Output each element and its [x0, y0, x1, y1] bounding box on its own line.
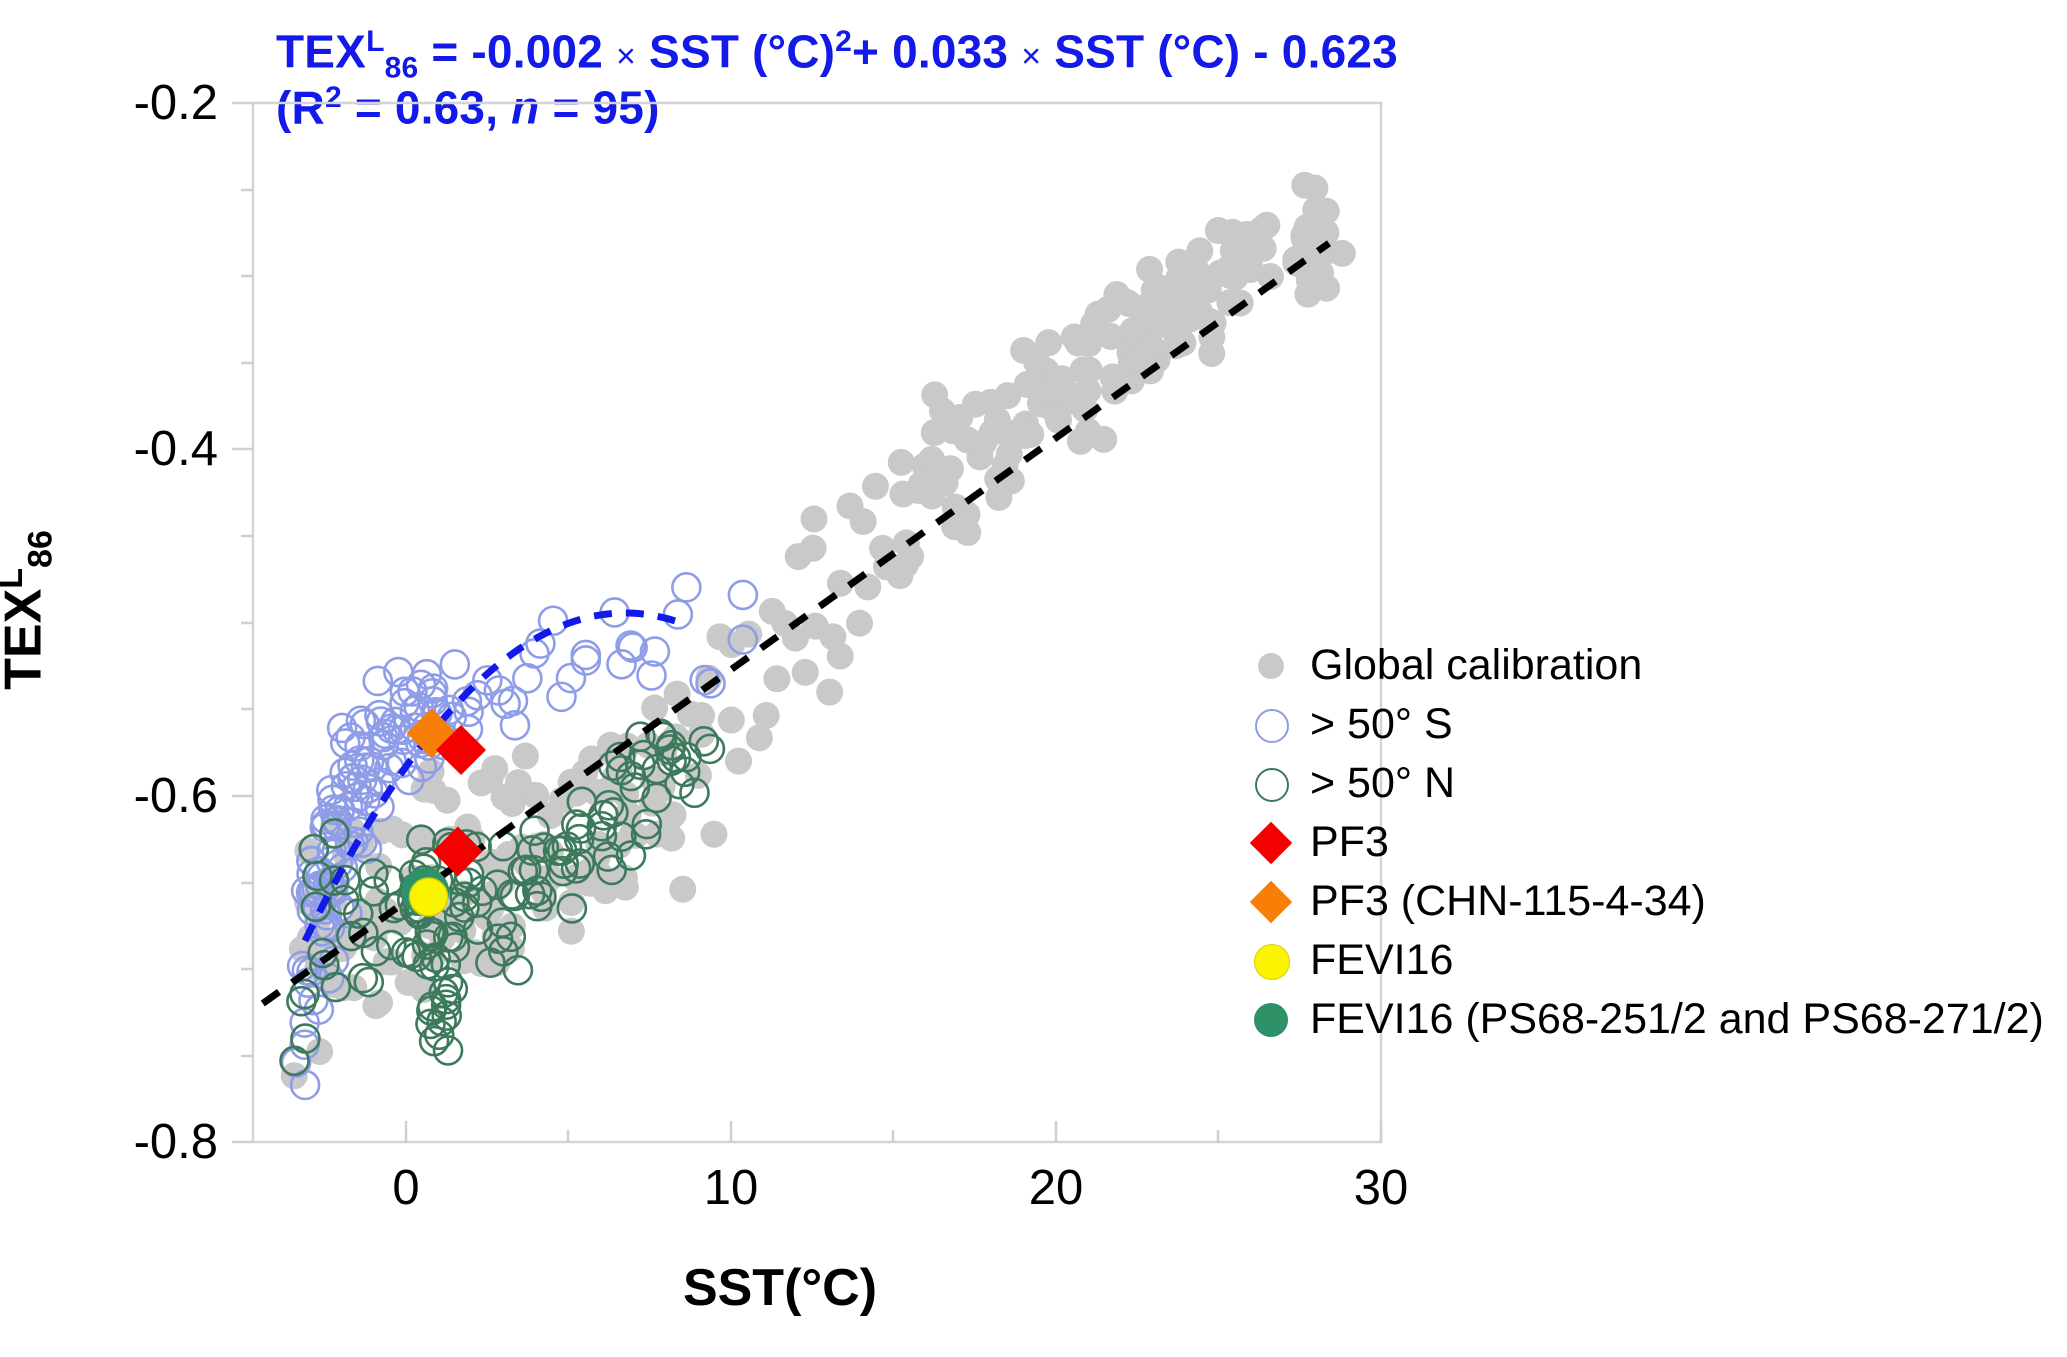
legend-item-pf3-chn[interactable]: PF3 (CHN-115-4-34) [1240, 872, 2044, 931]
data-point-global-calibration [725, 748, 752, 775]
legend-item-north-50[interactable]: > 50° N [1240, 754, 2044, 813]
legend-marker-open-circle-blue [1240, 695, 1302, 754]
data-point-global-calibration [481, 755, 508, 782]
data-point-global-calibration [846, 610, 873, 637]
data-point-global-calibration [366, 989, 393, 1016]
data-point-global-calibration [1119, 317, 1146, 344]
data-point-global-calibration [816, 679, 843, 706]
data-point-global-calibration [1076, 357, 1103, 384]
legend-item-global-calibration[interactable]: Global calibration [1240, 636, 2044, 695]
data-point-global-calibration [1090, 426, 1117, 453]
data-point-global-calibration [434, 787, 461, 814]
data-point-south-50 [520, 639, 548, 667]
data-point-south-50 [664, 600, 692, 628]
legend-marker-filled-circle-yellow [1240, 931, 1302, 990]
data-point-global-calibration [862, 473, 889, 500]
data-point-global-calibration [1186, 237, 1213, 264]
data-point-south-50 [572, 641, 600, 669]
legend: Global calibration > 50° S > 50° N PF3 P… [1240, 636, 2044, 1049]
legend-marker-diamond-orange [1240, 872, 1302, 931]
data-point-global-calibration [792, 659, 819, 686]
data-point-south-50 [672, 573, 700, 601]
data-point-global-calibration [1031, 380, 1058, 407]
legend-label-4: PF3 (CHN-115-4-34) [1302, 877, 1706, 926]
data-point-global-calibration [850, 508, 877, 535]
data-point-global-calibration [888, 449, 915, 476]
data-point-global-calibration [658, 825, 685, 852]
data-point-south-50 [441, 650, 469, 678]
data-point-global-calibration [819, 623, 846, 650]
data-point-north-50 [291, 1025, 319, 1053]
legend-marker-filled-circle-gray [1240, 636, 1302, 695]
data-point-global-calibration [1301, 175, 1328, 202]
data-point-global-calibration [718, 707, 745, 734]
legend-item-pf3[interactable]: PF3 [1240, 813, 2044, 872]
legend-item-fevi16-ps68[interactable]: FEVI16 (PS68-251/2 and PS68-271/2) [1240, 990, 2044, 1049]
data-point-global-calibration [641, 695, 668, 722]
data-point-south-50 [513, 664, 541, 692]
data-point-global-calibration [929, 397, 956, 424]
legend-label-1: > 50° S [1302, 700, 1453, 749]
scatter-plot-figure: TEXL86 = -0.002 × SST (°C)2+ 0.033 × SST… [0, 0, 2067, 1357]
data-point-fevi16 [410, 878, 448, 916]
legend-marker-filled-circle-green [1240, 990, 1302, 1049]
data-point-global-calibration [800, 535, 827, 562]
legend-label-0: Global calibration [1302, 641, 1642, 690]
legend-label-3: PF3 [1302, 818, 1389, 867]
legend-item-fevi16[interactable]: FEVI16 [1240, 931, 2044, 990]
data-point-global-calibration [1085, 301, 1112, 328]
legend-label-2: > 50° N [1302, 759, 1455, 808]
legend-marker-diamond-red [1240, 813, 1302, 872]
data-point-global-calibration [970, 429, 997, 456]
legend-item-south-50[interactable]: > 50° S [1240, 695, 2044, 754]
data-point-global-calibration [763, 665, 790, 692]
y-axis-ticks [232, 103, 253, 1142]
data-point-global-calibration [1023, 349, 1050, 376]
data-point-global-calibration [746, 724, 773, 751]
data-point-south-50 [572, 646, 600, 674]
data-point-global-calibration [1294, 214, 1321, 241]
data-point-global-calibration [893, 529, 920, 556]
data-point-global-calibration [932, 469, 959, 496]
data-point-global-calibration [801, 505, 828, 532]
data-point-north-50 [439, 975, 467, 1003]
data-point-south-50 [729, 581, 757, 609]
legend-marker-open-circle-green [1240, 754, 1302, 813]
data-point-global-calibration [735, 621, 762, 648]
data-point-global-calibration [1253, 212, 1280, 239]
data-point-global-calibration [977, 389, 1004, 416]
data-point-global-calibration [1012, 422, 1039, 449]
data-point-global-calibration [700, 821, 727, 848]
data-point-global-calibration [512, 743, 539, 770]
data-point-global-calibration [669, 876, 696, 903]
x-axis-ticks [406, 1121, 1381, 1142]
legend-label-6: FEVI16 (PS68-251/2 and PS68-271/2) [1302, 995, 2044, 1044]
data-point-global-calibration [908, 471, 935, 498]
legend-label-5: FEVI16 [1302, 936, 1453, 985]
